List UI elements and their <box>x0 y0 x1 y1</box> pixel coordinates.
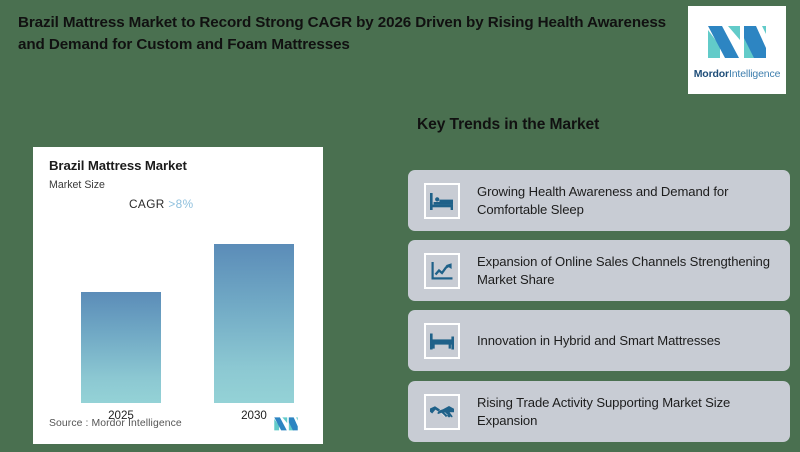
trend-card-growing-health-awareness[interactable]: Growing Health Awareness and Demand for … <box>408 170 790 231</box>
trend-card-hybrid-smart-mattresses[interactable]: Innovation in Hybrid and Smart Mattresse… <box>408 310 790 371</box>
chart-plot-area <box>49 219 307 403</box>
brand-logo: MordorIntelligence <box>688 6 786 94</box>
trends-heading: Key Trends in the Market <box>417 116 599 134</box>
mordor-logo-mark-small <box>273 415 299 432</box>
brand-wordmark: MordorIntelligence <box>694 68 781 80</box>
chart-title: Brazil Mattress Market <box>49 158 187 173</box>
cagr-annotation: CAGR >8% <box>129 197 194 211</box>
line-chart-up-icon <box>424 253 460 289</box>
bed-frame-icon <box>424 323 460 359</box>
brand-word-light: Intelligence <box>729 68 780 80</box>
mordor-intelligence-logo-mark <box>706 20 768 62</box>
brand-word-bold: Mordor <box>694 68 729 80</box>
chart-footer: Source : Mordor Intelligence <box>49 415 309 435</box>
page-title: Brazil Mattress Market to Record Strong … <box>18 12 668 57</box>
market-size-chart-card: Brazil Mattress Market Market Size CAGR … <box>33 147 323 444</box>
bar-2030 <box>214 244 294 403</box>
trend-card-online-sales-expansion[interactable]: Expansion of Online Sales Channels Stren… <box>408 240 790 301</box>
cagr-label: CAGR <box>129 197 165 211</box>
trend-card-label: Rising Trade Activity Supporting Market … <box>477 394 780 429</box>
trend-card-label: Innovation in Hybrid and Smart Mattresse… <box>477 332 720 349</box>
bed-occupied-icon <box>424 183 460 219</box>
chart-subtitle: Market Size <box>49 179 105 191</box>
trend-card-label: Growing Health Awareness and Demand for … <box>477 183 780 218</box>
trend-card-rising-trade-activity[interactable]: Rising Trade Activity Supporting Market … <box>408 381 790 442</box>
handshake-icon <box>424 394 460 430</box>
bar-2025 <box>81 292 161 403</box>
cagr-value: >8% <box>168 197 193 211</box>
page-header: Brazil Mattress Market to Record Strong … <box>0 0 800 102</box>
trend-card-label: Expansion of Online Sales Channels Stren… <box>477 253 780 288</box>
chart-source-text: Source : Mordor Intelligence <box>49 418 182 429</box>
